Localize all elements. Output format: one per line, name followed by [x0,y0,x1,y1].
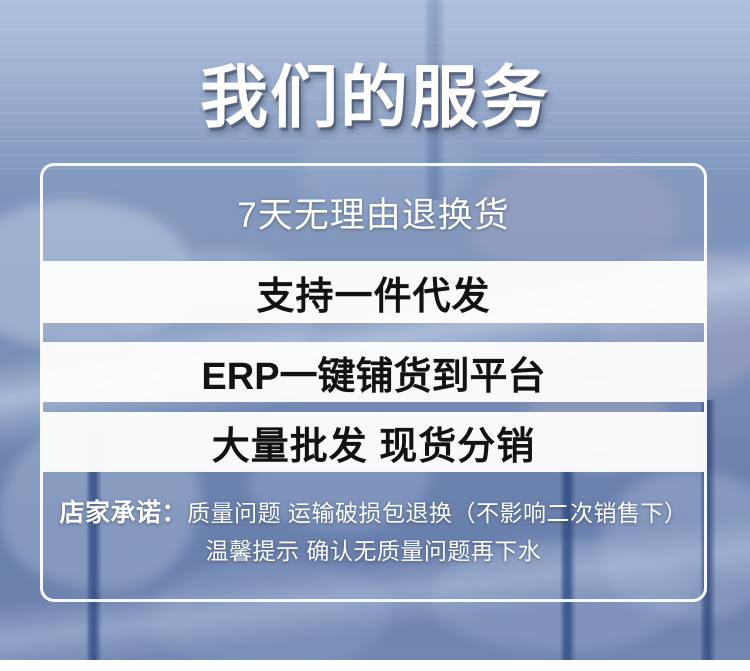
service-item-label: ERP一键铺货到平台 [201,345,545,400]
service-item-dropshipping: 支持一件代发 [43,261,704,323]
service-item-label: 大量批发 现货分销 [212,415,536,470]
bottom-white-strip [0,660,750,671]
shop-promise-line: 店家承诺：质量问题 运输破损包退换（不影响二次销售下） [60,496,688,530]
service-item-label: 7天无理由退换货 [237,187,509,238]
service-item-return-policy: 7天无理由退换货 [43,166,704,258]
service-item-label: 支持一件代发 [256,265,490,320]
shop-promise-label: 店家承诺： [60,499,188,527]
service-item-erp-listing: ERP一键铺货到平台 [43,342,704,402]
service-item-wholesale: 大量批发 现货分销 [43,412,704,472]
service-banner: 我们的服务 7天无理由退换货 支持一件代发 ERP一键铺货到平台 大量批发 现货… [0,0,750,671]
service-list-card: 7天无理由退换货 支持一件代发 ERP一键铺货到平台 大量批发 现货分销 店家承… [40,163,707,602]
shop-promise-tip: 温馨提示 确认无质量问题再下水 [206,534,542,568]
shop-promise-detail: 质量问题 运输破损包退换（不影响二次销售下） [187,500,687,526]
page-title: 我们的服务 [0,58,750,138]
shop-promise-block: 店家承诺：质量问题 运输破损包退换（不影响二次销售下） 温馨提示 确认无质量问题… [43,484,704,602]
